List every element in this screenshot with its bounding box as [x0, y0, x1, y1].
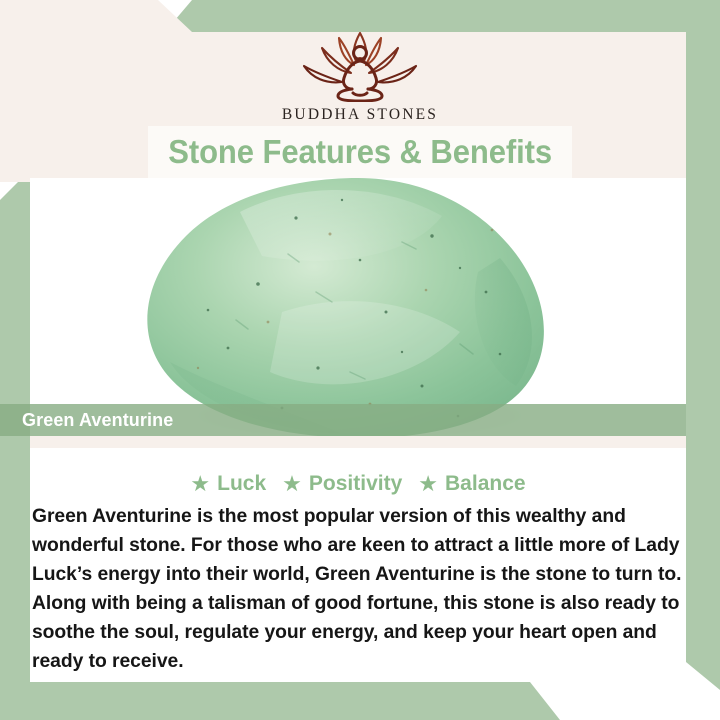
infographic-page: BUDDHA STONES Stone Features & Benefits — [0, 0, 720, 720]
product-image — [30, 178, 686, 442]
decorative-left-green-band — [0, 178, 30, 720]
brand-logo: BUDDHA STONES — [0, 28, 720, 124]
green-aventurine-stone-photo — [30, 178, 686, 442]
divider-strip — [30, 436, 686, 448]
benefit-label: Luck — [217, 472, 266, 496]
benefit-item-positivity: ★ Positivity — [282, 472, 402, 496]
star-icon: ★ — [418, 473, 438, 495]
star-icon: ★ — [190, 473, 210, 495]
stone-name-band: Green Aventurine — [0, 404, 686, 436]
brand-name: BUDDHA STONES — [282, 106, 438, 124]
lotus-meditation-icon — [294, 28, 426, 102]
decorative-bottom-green-band — [0, 682, 560, 720]
page-title: Stone Features & Benefits — [168, 133, 552, 171]
benefit-item-luck: ★ Luck — [190, 472, 266, 496]
benefit-label: Positivity — [309, 472, 402, 496]
benefit-item-balance: ★ Balance — [418, 472, 525, 496]
benefit-label: Balance — [445, 472, 526, 496]
stone-name-label: Green Aventurine — [22, 410, 173, 431]
description-text: Green Aventurine is the most popular ver… — [32, 502, 682, 676]
benefits-row: ★ Luck ★ Positivity ★ Balance — [30, 468, 686, 500]
title-banner: Stone Features & Benefits — [148, 126, 572, 178]
star-icon: ★ — [282, 473, 302, 495]
